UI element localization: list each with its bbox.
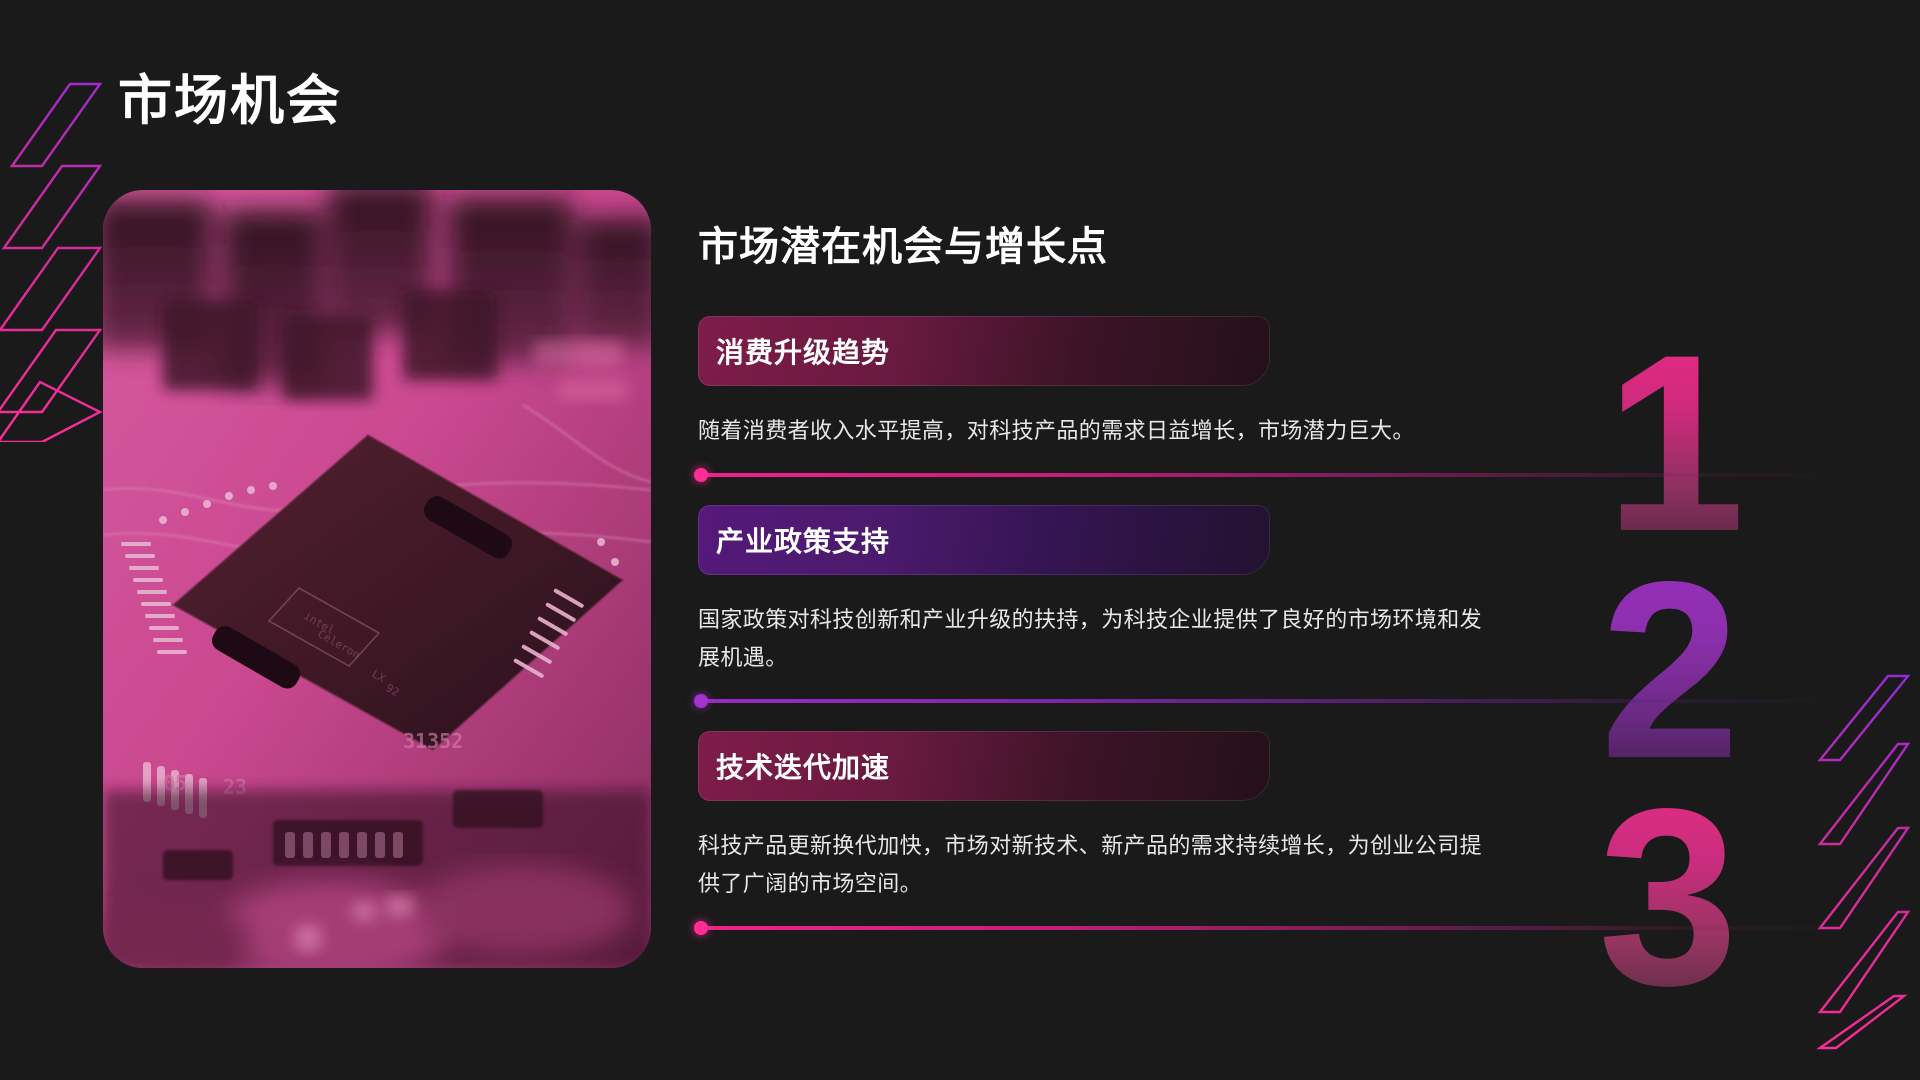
section-title: 市场潜在机会与增长点 (698, 214, 1858, 272)
opportunity-divider-3 (698, 925, 1858, 930)
opportunity-chip-3[interactable]: 技术迭代加速 (698, 731, 1270, 801)
circuit-board-photo: intel Celeron LX 92 (103, 190, 651, 968)
opportunity-title-2: 产业政策支持 (716, 520, 890, 560)
divider-dot-icon (694, 468, 708, 482)
opportunity-item-2: 产业政策支持 国家政策对科技创新和产业升级的扶持，为科技企业提供了良好的市场环境… (698, 505, 1858, 704)
opportunity-divider-2 (698, 698, 1858, 703)
divider-line (698, 699, 1858, 703)
slide-root: 市场机会 (0, 0, 1920, 1080)
divider-line (698, 473, 1858, 477)
divider-dot-icon (694, 921, 708, 935)
divider-line (698, 926, 1858, 930)
content-column: 市场潜在机会与增长点 消费升级趋势 随着消费者收入水平提高，对科技产品的需求日益… (698, 214, 1858, 930)
opportunity-body-3: 科技产品更新换代加快，市场对新技术、新产品的需求持续增长，为创业公司提供了广阔的… (698, 827, 1488, 903)
opportunity-chip-2[interactable]: 产业政策支持 (698, 505, 1270, 575)
page-title: 市场机会 (118, 72, 342, 131)
divider-dot-icon (694, 694, 708, 708)
opportunity-divider-1 (698, 472, 1858, 477)
opportunity-item-1: 消费升级趋势 随着消费者收入水平提高，对科技产品的需求日益增长，市场潜力巨大。 (698, 316, 1858, 477)
opportunity-body-1: 随着消费者收入水平提高，对科技产品的需求日益增长，市场潜力巨大。 (698, 412, 1488, 450)
opportunity-item-3: 技术迭代加速 科技产品更新换代加快，市场对新技术、新产品的需求持续增长，为创业公… (698, 731, 1858, 930)
opportunity-chip-1[interactable]: 消费升级趋势 (698, 316, 1270, 386)
opportunity-title-3: 技术迭代加速 (716, 746, 890, 786)
opportunity-body-2: 国家政策对科技创新和产业升级的扶持，为科技企业提供了良好的市场环境和发展机遇。 (698, 601, 1488, 677)
opportunity-title-1: 消费升级趋势 (716, 331, 890, 371)
